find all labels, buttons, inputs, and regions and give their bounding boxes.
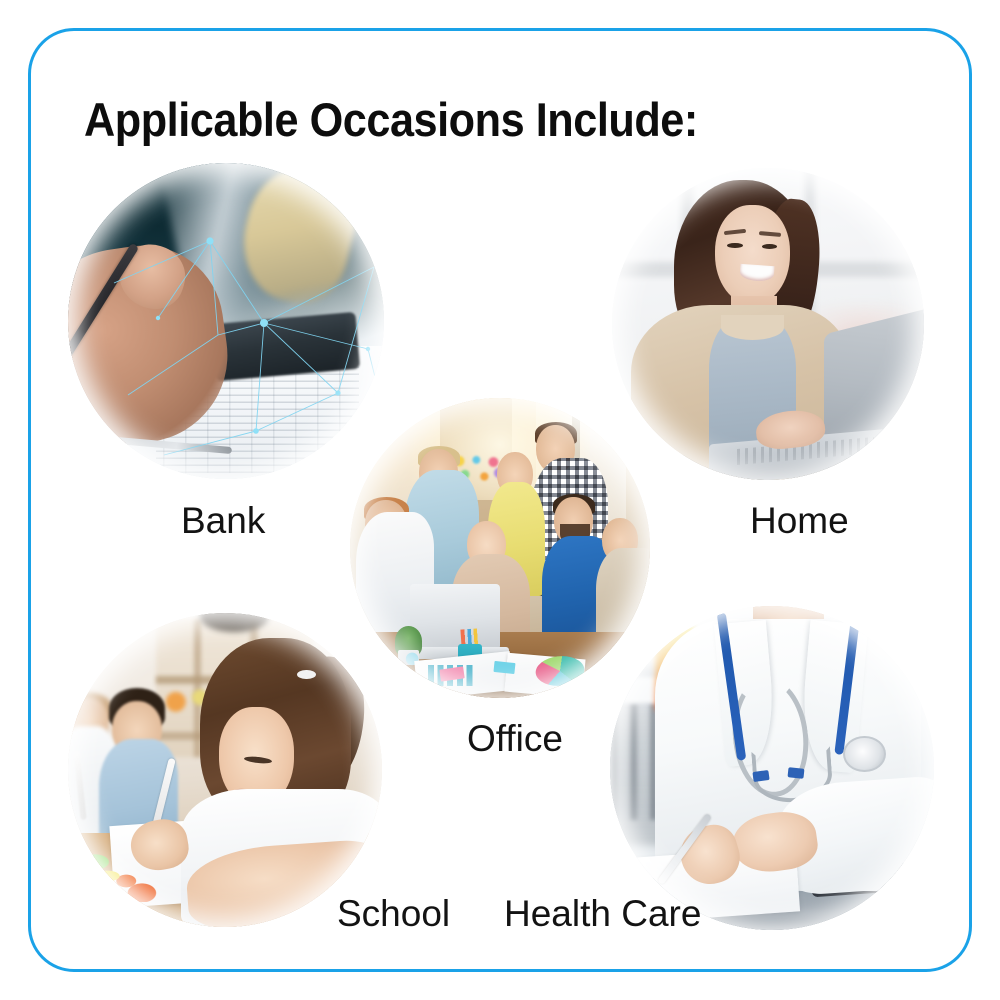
occasion-label-home: Home <box>750 500 849 542</box>
occasion-label-office: Office <box>467 718 563 760</box>
network-overlay-icon <box>68 163 384 479</box>
home-photo <box>612 168 924 480</box>
occasion-image-home <box>612 168 924 480</box>
bank-photo <box>68 163 384 479</box>
promo-banner: Applicable Occasions Include: <box>0 0 1000 1000</box>
occasion-image-office <box>350 398 650 698</box>
page-title: Applicable Occasions Include: <box>84 92 698 147</box>
occasion-image-school <box>68 613 382 927</box>
occasion-label-health-care: Health Care <box>504 893 701 935</box>
occasion-image-bank <box>68 163 384 479</box>
occasion-label-school: School <box>337 893 450 935</box>
health-care-photo <box>610 606 934 930</box>
school-photo <box>68 613 382 927</box>
occasion-label-bank: Bank <box>181 500 265 542</box>
office-photo <box>350 398 650 698</box>
occasion-image-health-care <box>610 606 934 930</box>
